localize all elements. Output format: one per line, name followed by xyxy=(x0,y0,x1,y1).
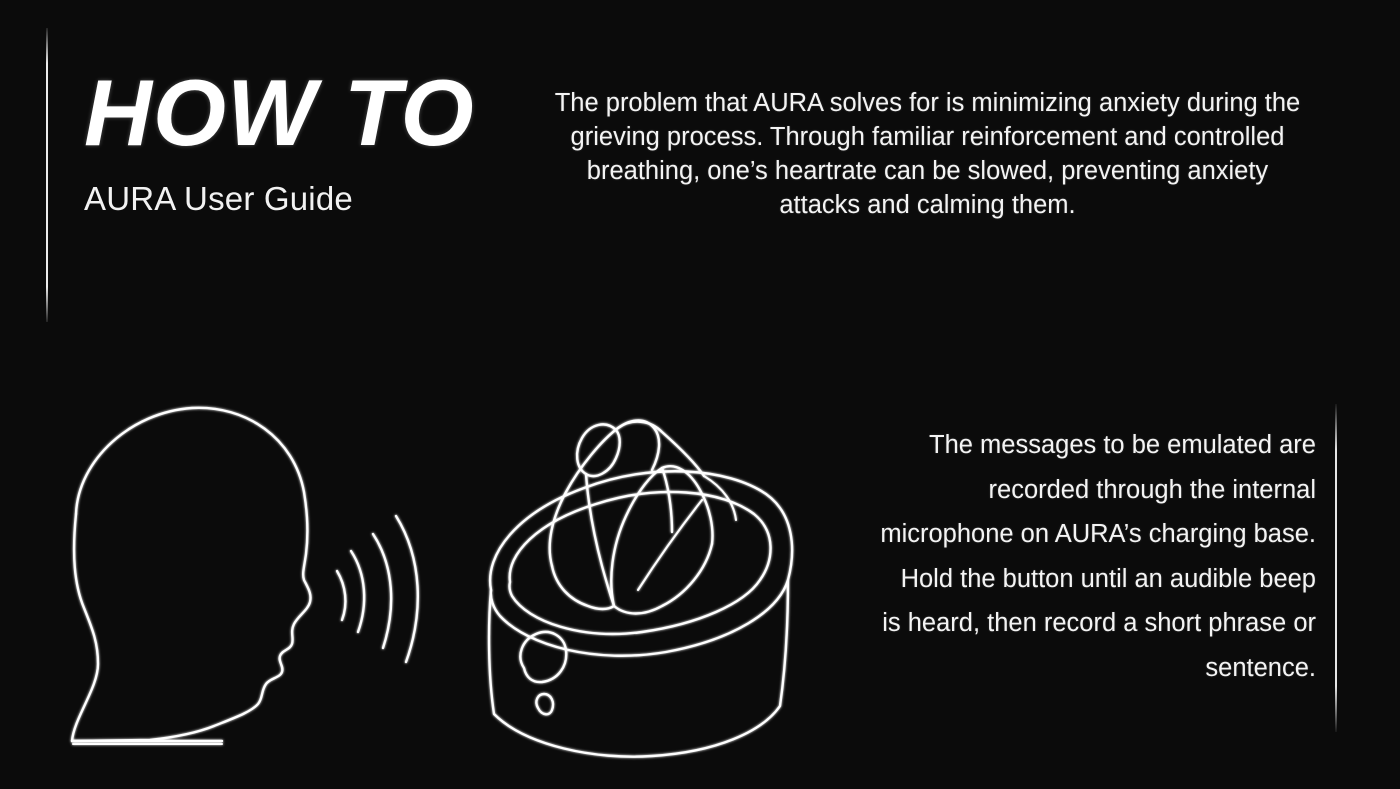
vertical-rule-right xyxy=(1335,404,1337,732)
speaking-head-illustration xyxy=(46,388,456,776)
vertical-rule-left xyxy=(46,28,48,322)
instruction-paragraph: The messages to be emulated are recorded… xyxy=(876,423,1316,690)
title-block: HOW TO AURA User Guide xyxy=(84,66,514,218)
page-subtitle: AURA User Guide xyxy=(84,180,514,218)
page-title: HOW TO xyxy=(84,66,514,160)
charging-base-illustration xyxy=(466,384,816,780)
how-to-poster: HOW TO AURA User Guide The problem that … xyxy=(0,0,1400,789)
intro-paragraph: The problem that AURA solves for is mini… xyxy=(545,86,1310,222)
